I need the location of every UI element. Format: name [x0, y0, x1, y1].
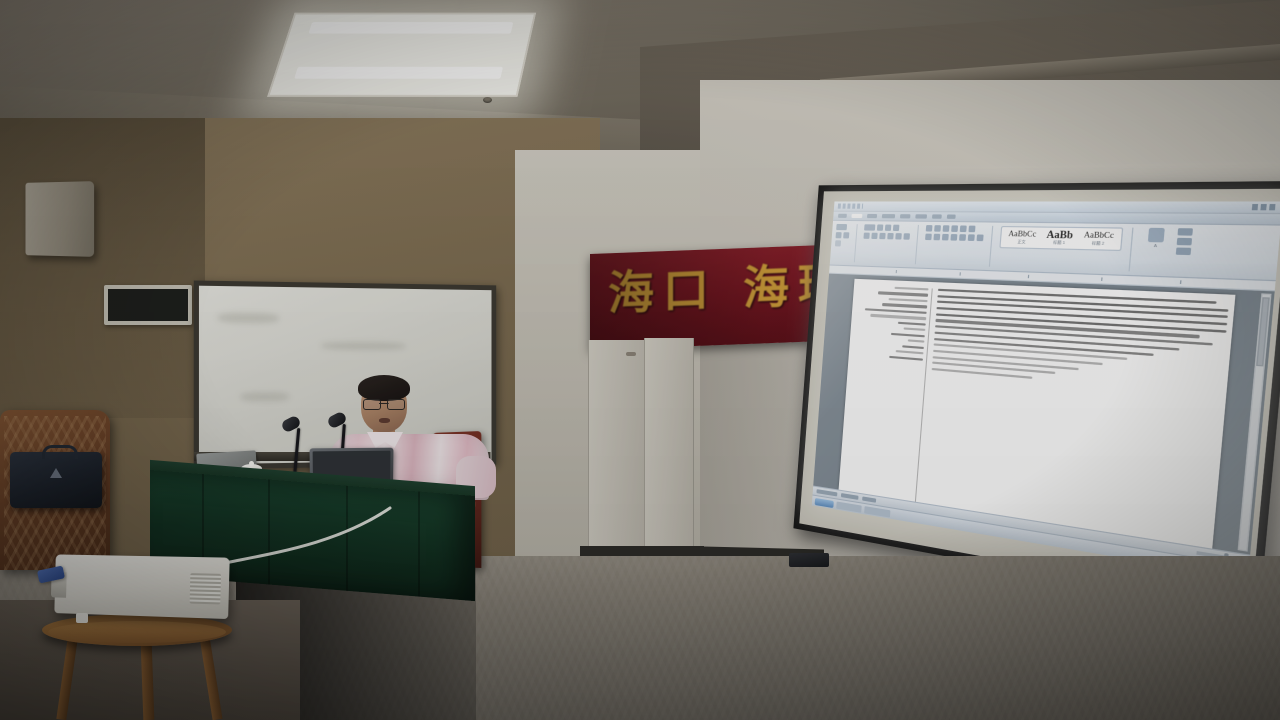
line-spacing-icon[interactable]: [959, 234, 966, 241]
ribbon-group-font[interactable]: [863, 224, 910, 239]
increase-indent-icon[interactable]: [960, 225, 967, 232]
ceiling-light-panel: [267, 13, 536, 97]
tab-review[interactable]: [932, 214, 942, 218]
quick-access-toolbar[interactable]: [838, 204, 863, 209]
style-name: 正文: [1017, 240, 1026, 246]
wall-speaker: [25, 181, 94, 257]
format-painter-icon[interactable]: [835, 240, 841, 246]
partition-panel: [644, 338, 694, 552]
align-right-icon[interactable]: [942, 234, 949, 241]
floor-power-box: [789, 553, 829, 567]
partition-handle[interactable]: [626, 352, 636, 356]
style-heading-1[interactable]: AaBb 标题 1: [1041, 230, 1078, 247]
partition-panel: [588, 340, 646, 552]
numbering-icon[interactable]: [934, 225, 941, 232]
ribbon-group-paragraph[interactable]: [925, 225, 984, 241]
shrink-font-icon[interactable]: [893, 225, 900, 231]
style-preview: AaBbCc: [1083, 230, 1114, 241]
italic-icon[interactable]: [871, 233, 877, 239]
change-styles-button[interactable]: A: [1141, 228, 1172, 249]
presenter-hair: [358, 375, 410, 401]
tab-view[interactable]: [947, 214, 956, 218]
table-column-right: [916, 288, 1230, 547]
tab-file[interactable]: [838, 214, 847, 218]
start-button[interactable]: [815, 497, 834, 507]
language-indicator: [862, 496, 876, 502]
window-controls[interactable]: [1252, 204, 1279, 210]
tab-mailings[interactable]: [915, 214, 927, 218]
borders-icon[interactable]: [976, 234, 983, 241]
tab-home[interactable]: [851, 214, 862, 218]
cut-icon[interactable]: [836, 232, 842, 238]
light-tube: [309, 22, 513, 33]
wall-control-panel[interactable]: [104, 285, 192, 325]
style-name: 标题 1: [1053, 240, 1065, 246]
strikethrough-icon[interactable]: [887, 233, 894, 239]
paste-icon[interactable]: [836, 224, 847, 230]
font-size-box[interactable]: [877, 224, 883, 230]
align-left-icon[interactable]: [925, 234, 932, 241]
tab-insert[interactable]: [867, 214, 877, 218]
style-name: 标题 2: [1092, 241, 1105, 247]
ribbon-group-editing[interactable]: [1176, 228, 1193, 255]
align-center-icon[interactable]: [933, 234, 940, 241]
projector-vent: [190, 573, 221, 604]
decrease-indent-icon[interactable]: [951, 225, 958, 232]
projector: [54, 554, 229, 619]
laptop-bag: [10, 452, 102, 508]
justify-icon[interactable]: [950, 234, 957, 241]
bold-icon[interactable]: [863, 233, 869, 239]
sort-icon[interactable]: [968, 226, 975, 233]
text-highlight-icon[interactable]: [895, 233, 902, 239]
change-styles-icon: [1148, 228, 1165, 243]
style-heading-2[interactable]: AaBbCc 标题 2: [1079, 230, 1118, 247]
shading-icon[interactable]: [968, 234, 975, 241]
glasses-icon: [363, 399, 405, 408]
smoke-detector-icon: [483, 97, 492, 103]
conference-room-photo: 海口 海环院环境: [0, 0, 1280, 720]
style-preview: AaBbCc: [1008, 229, 1037, 240]
replace-icon[interactable]: [1177, 238, 1192, 246]
change-styles-label: A: [1154, 243, 1157, 248]
style-gallery[interactable]: AaBbCc 正文 AaBb 标题 1 AaBbCc 标题 2: [999, 226, 1123, 251]
find-icon[interactable]: [1177, 228, 1192, 235]
tab-references[interactable]: [900, 214, 911, 218]
scrollbar-thumb[interactable]: [1256, 297, 1270, 367]
underline-icon[interactable]: [879, 233, 885, 239]
grow-font-icon[interactable]: [885, 225, 892, 231]
ribbon-group-clipboard[interactable]: [835, 224, 850, 247]
projector-foot: [76, 613, 88, 623]
left-wall-shadow: [0, 118, 205, 418]
copy-icon[interactable]: [843, 232, 849, 238]
bullets-icon[interactable]: [926, 225, 933, 232]
stool-seat-rim: [48, 621, 226, 643]
presenter-mouth: [379, 418, 390, 423]
multilevel-list-icon[interactable]: [943, 225, 950, 232]
font-color-icon[interactable]: [903, 233, 910, 239]
light-tube: [295, 67, 503, 78]
bag-logo-icon: [50, 468, 62, 478]
style-preview: AaBb: [1046, 230, 1073, 241]
bag-handle: [42, 445, 78, 459]
select-icon[interactable]: [1176, 248, 1191, 256]
font-name-box[interactable]: [864, 224, 875, 230]
tab-page-layout[interactable]: [882, 214, 895, 218]
style-normal[interactable]: AaBbCc 正文: [1004, 229, 1040, 245]
